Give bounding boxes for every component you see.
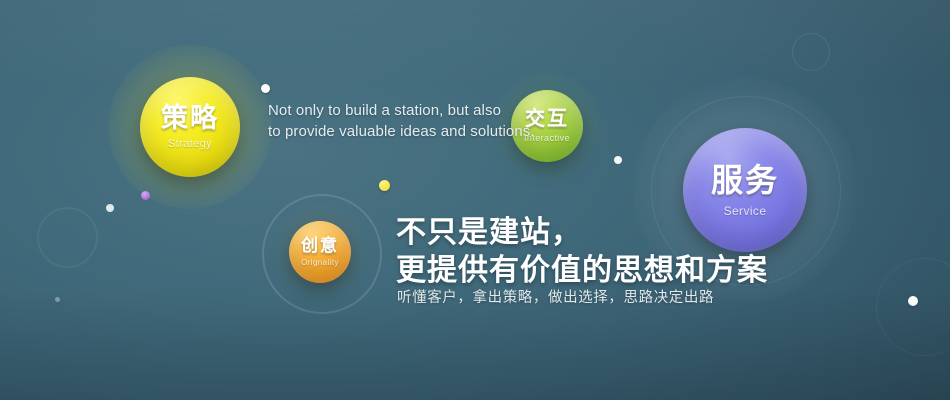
decorative-dot-white-left — [106, 204, 114, 212]
bubble-originality[interactable]: 创意 Orignality — [289, 221, 351, 283]
headline-line2: 更提供有价值的思想和方案 — [396, 252, 768, 290]
english-tagline-line2: to provide valuable ideas and solutions. — [268, 121, 498, 142]
decorative-ring-right-edge — [876, 258, 950, 356]
headline: 不只是建站， 更提供有价值的思想和方案 — [396, 214, 768, 290]
decorative-dot-white-mid — [614, 156, 622, 164]
bubble-strategy-en-label: Strategy — [168, 139, 212, 150]
decorative-dot-white-upper — [261, 84, 270, 93]
subheadline: 听懂客户，拿出策略，做出选择，思路决定出路 — [397, 286, 714, 307]
bubble-strategy-cn-label: 策略 — [161, 105, 219, 132]
decorative-ring-bottom-left — [37, 207, 98, 268]
decorative-dot-faint — [55, 297, 60, 302]
bubble-strategy[interactable]: 策略 Strategy — [140, 77, 240, 177]
english-tagline-line1: Not only to build a station, but also — [268, 100, 498, 121]
english-tagline: Not only to build a station, but also to… — [268, 100, 498, 143]
decorative-ring-top-right — [792, 33, 830, 71]
bubble-service-cn-label: 服务 — [711, 164, 779, 196]
decorative-dot-yellow — [379, 180, 390, 191]
decorative-dot-white-lower-right — [908, 296, 918, 306]
headline-line1: 不只是建站， — [396, 214, 768, 252]
bubble-originality-en-label: Orignality — [301, 259, 339, 267]
hero-banner: 策略 Strategy 交互 Interactive 创意 Orignality… — [0, 0, 950, 400]
bubble-originality-cn-label: 创意 — [301, 237, 339, 254]
decorative-dot-purple — [141, 191, 150, 200]
